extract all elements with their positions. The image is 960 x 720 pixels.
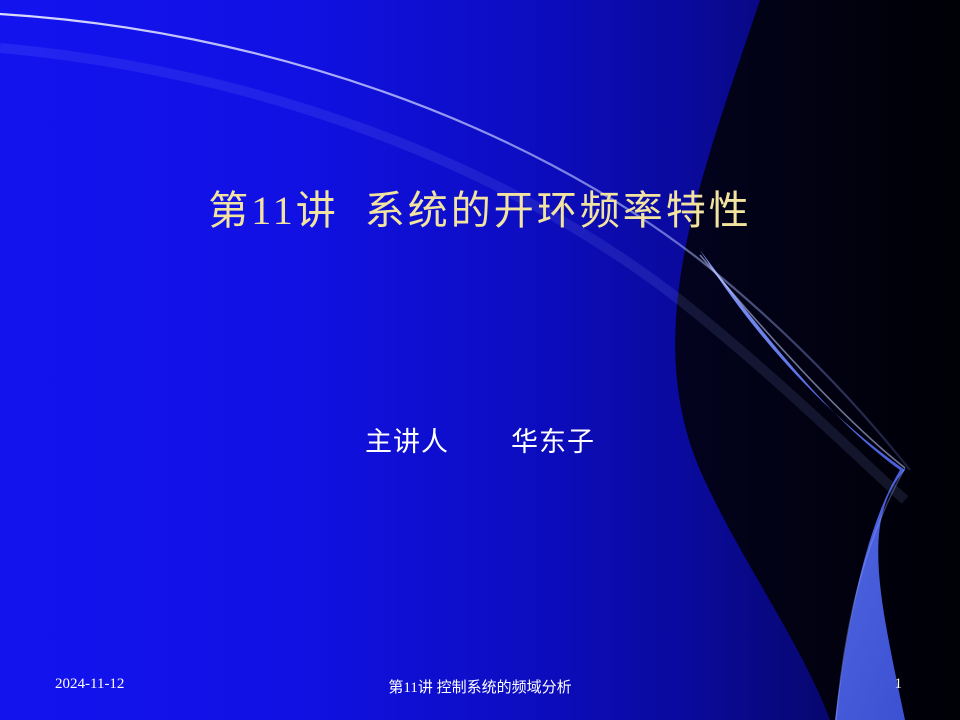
slide-title: 第11讲 系统的开环频率特性 bbox=[0, 178, 960, 236]
slide-subtitle: 主讲人 华东子 bbox=[0, 420, 960, 459]
presentation-slide: 第11讲 系统的开环频率特性 主讲人 华东子 2024-11-12 第11讲 控… bbox=[0, 0, 960, 720]
footer-title: 第11讲 控制系统的频域分析 bbox=[0, 676, 960, 697]
slide-footer: 2024-11-12 第11讲 控制系统的频域分析 1 bbox=[0, 676, 960, 698]
footer-page-number: 1 bbox=[895, 676, 903, 693]
slide-background-decoration bbox=[0, 0, 960, 720]
